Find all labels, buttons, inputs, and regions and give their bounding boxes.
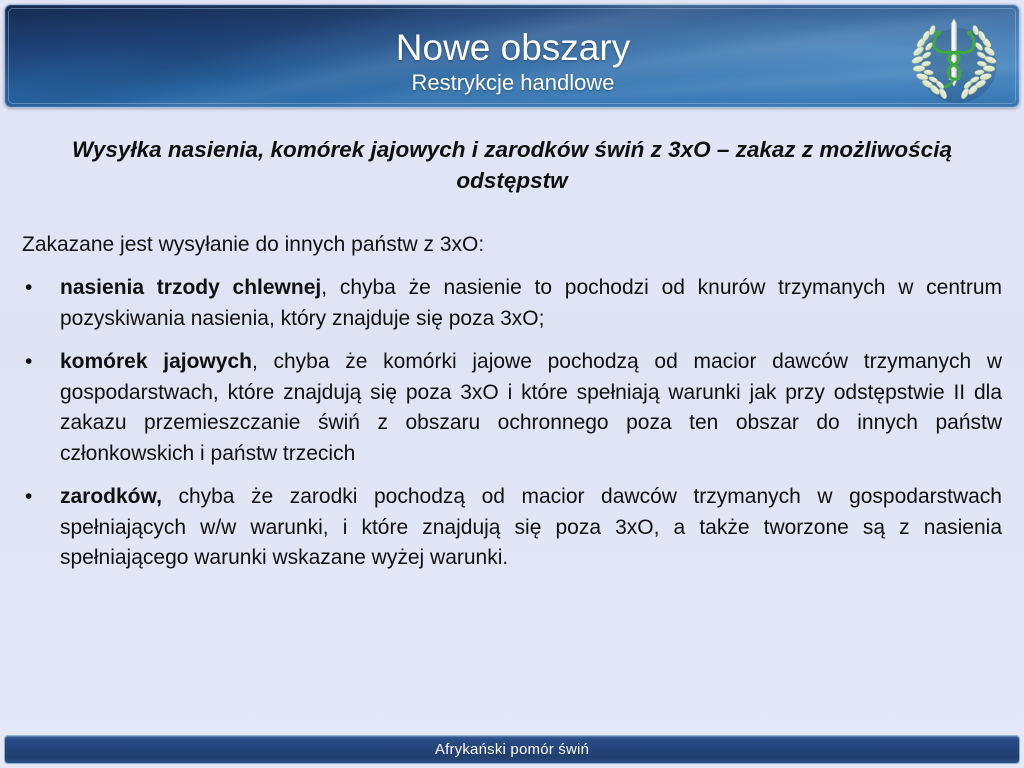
veterinary-inspection-emblem-icon bbox=[905, 10, 1003, 106]
list-item: • komórek jajowych, chyba że komórki jaj… bbox=[22, 347, 1002, 469]
list-item-rest: chyba że zarodki pochodzą od macior dawc… bbox=[60, 485, 1002, 569]
page-title: Nowe obszary bbox=[5, 27, 1020, 69]
bullet-marker-icon: • bbox=[25, 482, 32, 513]
page-subtitle: Restrykcje handlowe bbox=[5, 69, 1020, 97]
list-item: • zarodków, chyba że zarodki pochodzą od… bbox=[22, 482, 1002, 574]
list-item-lead: zarodków, bbox=[60, 485, 162, 508]
list-item-lead: komórek jajowych bbox=[60, 350, 252, 373]
slide-header-banner: Nowe obszary Restrykcje handlowe bbox=[4, 4, 1020, 108]
footer-text: Afrykański pomór świń bbox=[435, 741, 589, 759]
bullet-list: • nasienia trzody chlewnej, chyba że nas… bbox=[22, 273, 1002, 574]
slide-content: Wysyłka nasienia, komórek jajowych i zar… bbox=[0, 118, 1024, 718]
content-heading: Wysyłka nasienia, komórek jajowych i zar… bbox=[57, 134, 967, 196]
presentation-slide: Nowe obszary Restrykcje handlowe bbox=[0, 0, 1024, 768]
intro-paragraph: Zakazane jest wysyłanie do innych państw… bbox=[22, 231, 1002, 259]
bullet-marker-icon: • bbox=[25, 273, 32, 304]
bullet-marker-icon: • bbox=[25, 347, 32, 378]
list-item: • nasienia trzody chlewnej, chyba że nas… bbox=[22, 273, 1002, 334]
list-item-lead: nasienia trzody chlewnej bbox=[60, 276, 321, 299]
header-title-group: Nowe obszary Restrykcje handlowe bbox=[5, 27, 1020, 97]
slide-footer-bar: Afrykański pomór świń bbox=[4, 735, 1020, 764]
